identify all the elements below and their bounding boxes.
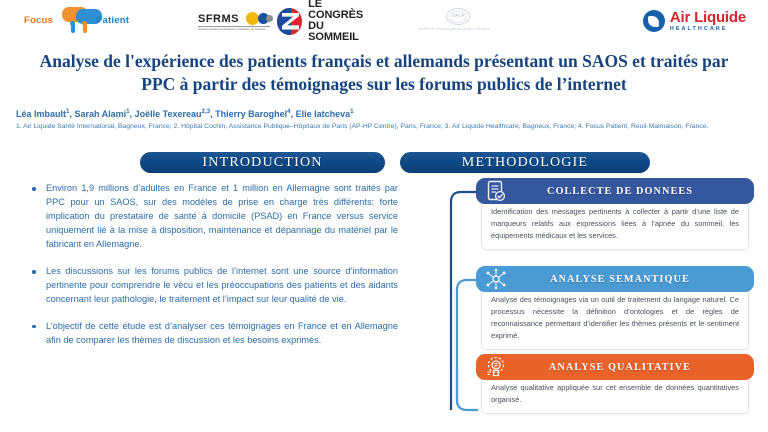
qualitative-gear-icon [484,355,508,379]
logo-air-liquide-healthcare: Air Liquide HEALTHCARE [643,6,746,36]
logo-air-liquide-sub: HEALTHCARE [670,27,746,32]
methodology-step-2-body: Analyse des témoignages via un outil de … [481,286,749,350]
section-header-introduction: INTRODUCTION [140,152,385,173]
section-header-methodologie: METHODOLOGIE [400,152,650,173]
logo-sfrms-subtitle: Société Française de Recherche et Médeci… [198,26,270,30]
list-item: Les discussions sur les forums publics d… [24,265,398,307]
logo-patient-text: Patient [96,15,129,26]
methodology-step-1-header: COLLECTE DE DONNEES [476,178,754,204]
methodology-step-1-body: Identification des messages pertinents à… [481,198,749,250]
logo-focus-patient: Focus Patient [24,6,142,36]
congres-emblem-icon [277,8,302,35]
person-body-orange-icon [83,22,87,33]
introduction-body: Environ 1,9 millions d’adultes en France… [24,182,398,361]
logo-splf: SPLF Société de Pneumologie de Langue Fr… [418,8,514,34]
logo-air-liquide-name: Air Liquide [670,10,746,25]
logo-sfrms-text: SFRMS [198,13,239,25]
methodology-step-3-title: ANALYSE QUALITATIVE [508,362,746,373]
list-item: L’objectif de cette étude est d’analyser… [24,320,398,348]
list-item: Environ 1,9 millions d’adultes en France… [24,182,398,252]
methodology-step-2-title: ANALYSE SEMANTIQUE [508,274,746,285]
network-nodes-icon [484,267,508,291]
methodology-step-2: ANALYSE SEMANTIQUE Analyse des témoignag… [476,266,754,350]
logo-sfrms: SFRMS Société Française de Recherche et … [198,10,276,34]
logo-bar: Focus Patient SFRMS Société Française de… [0,0,768,42]
logo-congres-line1: LE CONGRÈS [308,0,375,21]
logo-focus-text: Focus [24,15,53,26]
methodology-timeline: COLLECTE DE DONNEES Identification des m… [448,178,754,428]
methodology-step-3: ANALYSE QUALITATIVE Analyse qualitative … [476,354,754,414]
document-check-icon [484,179,508,203]
affiliations: 1. Air Liquide Santé International, Bagn… [16,122,744,133]
logo-congres-du-sommeil: LE CONGRÈS DU SOMMEIL [277,6,375,36]
logo-splf-subtitle: Société de Pneumologie de Langue Françai… [418,27,490,31]
logo-splf-text: SPLF [452,13,465,18]
person-body-blue-icon [71,22,75,33]
methodology-step-3-header: ANALYSE QUALITATIVE [476,354,754,380]
sfrms-circle-grey-icon [266,15,273,22]
poster-canvas: Focus Patient SFRMS Société Française de… [0,0,768,432]
air-liquide-mark-icon [643,10,665,32]
methodology-step-2-header: ANALYSE SEMANTIQUE [476,266,754,292]
methodology-step-1: COLLECTE DE DONNEES Identification des m… [476,178,754,250]
poster-title: Analyse de l'expérience des patients fra… [28,50,740,96]
methodology-step-1-title: COLLECTE DE DONNEES [508,186,746,197]
logo-congres-line2: DU SOMMEIL [308,21,375,43]
congres-z-glyph-icon [282,13,299,30]
author-list: Léa Imbault1, Sarah Alami1, Joëlle Texer… [16,108,746,120]
